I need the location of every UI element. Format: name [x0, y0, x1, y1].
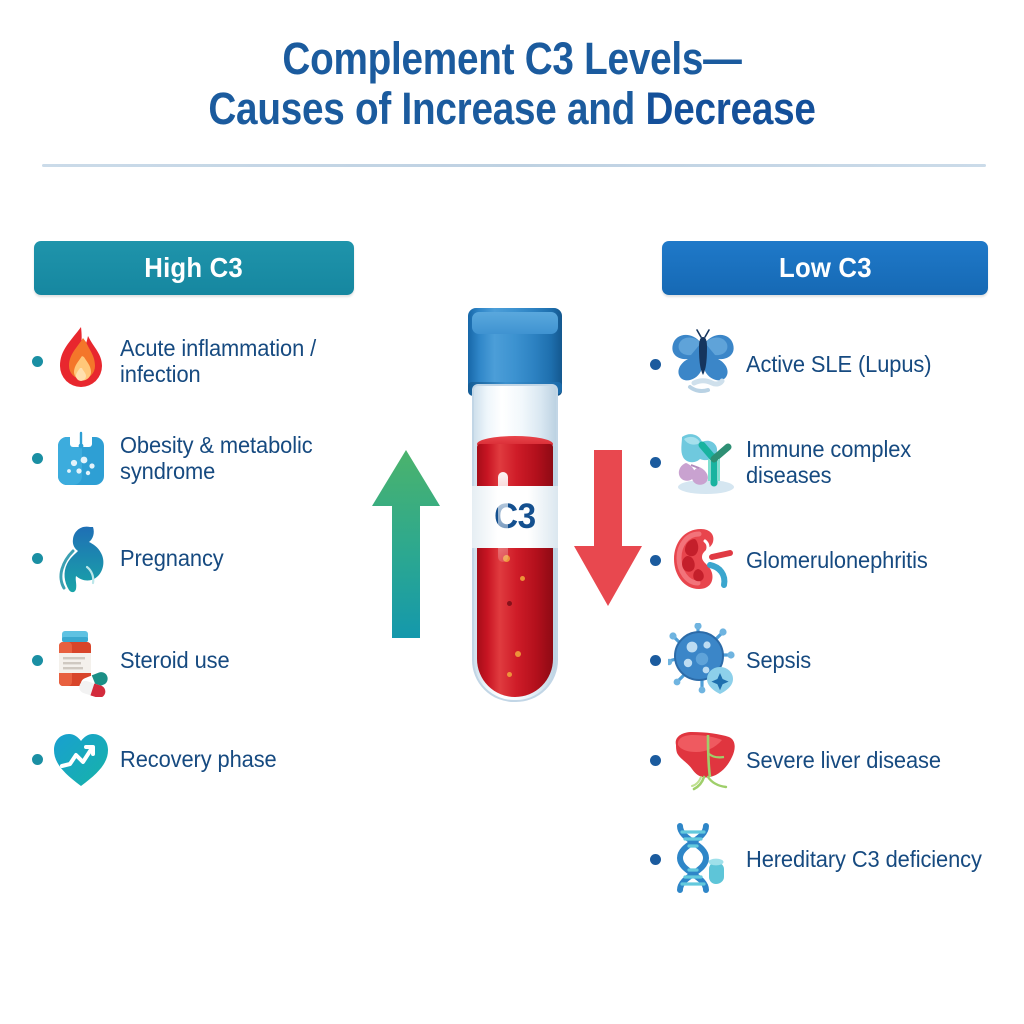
kidney-icon [668, 523, 738, 597]
list-item: Immune complex diseases [650, 418, 1020, 506]
title-line-2: Causes of Increase and Decrease [72, 84, 953, 134]
pregnant-woman-icon [50, 521, 112, 595]
bubble [507, 601, 512, 606]
tube-cap-icon [468, 308, 562, 396]
list-item: Obesity & metabolic syndrome [32, 412, 362, 504]
page-title: Complement C3 Levels— Causes of Increase… [0, 34, 1024, 135]
list-item-label: Steroid use [120, 647, 230, 673]
increase-arrow-icon [370, 448, 442, 640]
weight-scale-icon [50, 421, 112, 495]
bullet-icon [32, 356, 43, 367]
butterfly-icon [668, 327, 738, 401]
bullet-icon [32, 754, 43, 765]
bubble [520, 576, 525, 581]
list-item-label: Hereditary C3 deficiency [746, 846, 982, 872]
pill-bottle-icon [50, 623, 112, 697]
antibody-antigen-icon [668, 425, 738, 499]
low-c3-list: Active SLE (Lupus) Immune complex diseas… [650, 318, 1020, 912]
list-item-label: Immune complex diseases [746, 436, 1001, 489]
list-item-label: Obesity & metabolic syndrome [120, 432, 345, 485]
high-c3-header-label: High C3 [145, 252, 244, 284]
list-item-label: Active SLE (Lupus) [746, 351, 931, 377]
title-line-2-emphasis: Decrease [646, 83, 816, 134]
bullet-icon [650, 555, 661, 566]
bullet-icon [650, 457, 661, 468]
list-item: Recovery phase [32, 716, 362, 802]
bullet-icon [650, 854, 661, 865]
liver-icon [668, 723, 738, 797]
low-c3-header: Low C3 [662, 241, 988, 295]
bullet-icon [650, 755, 661, 766]
list-item: Hereditary C3 deficiency [650, 814, 1020, 904]
tube-label: C3 [472, 486, 558, 548]
dna-helix-icon [668, 822, 738, 896]
bacteria-icon [668, 623, 738, 697]
list-item: Sepsis [650, 614, 1020, 706]
list-item: Severe liver disease [650, 714, 1020, 806]
list-item-label: Glomerulonephritis [746, 547, 928, 573]
center-illustration: C3 [360, 300, 680, 720]
high-c3-list: Acute inflammation / infection Obesity &… [32, 318, 362, 810]
heart-trend-icon [50, 722, 112, 796]
title-line-1: Complement C3 Levels— [72, 34, 953, 84]
title-line-2-prefix: Causes of Increase and [208, 83, 645, 134]
bullet-icon [650, 359, 661, 370]
header-divider [42, 164, 986, 167]
bullet-icon [650, 655, 661, 666]
list-item-label: Sepsis [746, 647, 811, 673]
decrease-arrow-icon [572, 448, 644, 608]
list-item-label: Severe liver disease [746, 747, 941, 773]
bullet-icon [32, 553, 43, 564]
list-item: Active SLE (Lupus) [650, 318, 1020, 410]
list-item: Glomerulonephritis [650, 514, 1020, 606]
high-c3-header: High C3 [34, 241, 354, 295]
list-item: Steroid use [32, 612, 362, 708]
glass-highlight [498, 472, 508, 562]
list-item: Acute inflammation / infection [32, 318, 362, 404]
bubble [515, 651, 521, 657]
bubble [507, 672, 512, 677]
list-item-label: Pregnancy [120, 545, 224, 571]
list-item-label: Acute inflammation / infection [120, 335, 345, 388]
list-item-label: Recovery phase [120, 746, 277, 772]
low-c3-header-label: Low C3 [779, 252, 872, 284]
bullet-icon [32, 453, 43, 464]
test-tube-illustration: C3 [460, 308, 572, 708]
list-item: Pregnancy [32, 512, 362, 604]
flame-icon [50, 324, 112, 398]
blood-fill [477, 444, 553, 697]
bullet-icon [32, 655, 43, 666]
